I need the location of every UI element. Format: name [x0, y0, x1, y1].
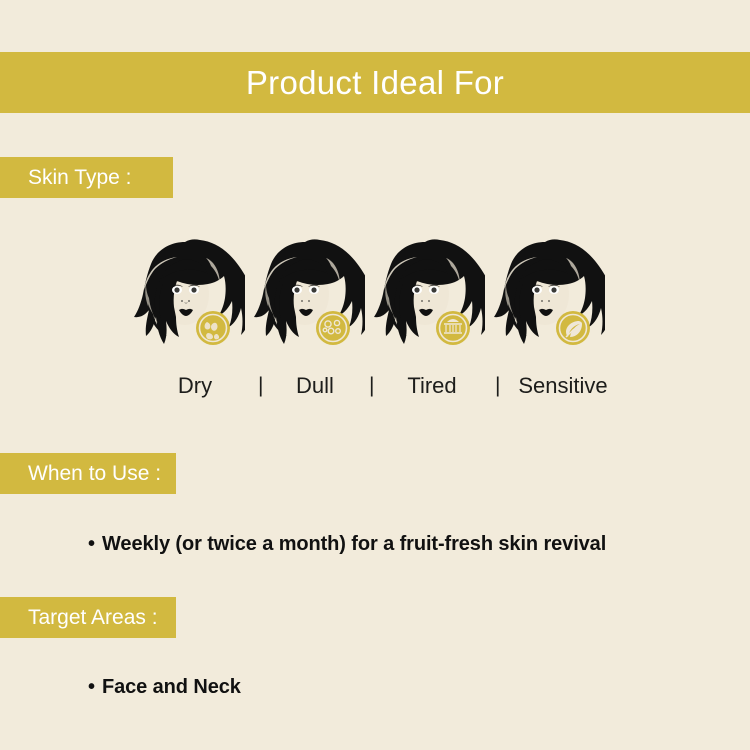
leaf-badge-icon: [556, 311, 590, 345]
section-label-skin-type: Skin Type :: [0, 157, 173, 198]
section-label-target-areas: Target Areas :: [0, 597, 176, 638]
woman-face-dry-icon: [134, 239, 245, 345]
skin-type-icon-dull: [245, 236, 365, 354]
header-banner: Product Ideal For: [0, 52, 750, 113]
bullet-marker-icon: •: [88, 677, 102, 697]
skin-type-separator-2: |: [369, 368, 374, 404]
woman-face-tired-icon: [374, 239, 485, 345]
skin-type-separator-3: |: [495, 368, 500, 404]
bullet-marker-icon: •: [88, 534, 102, 554]
cracked-skin-badge-icon: [196, 311, 230, 345]
skin-type-icon-tired: [365, 236, 485, 354]
skin-type-label-sensitive: Sensitive: [508, 368, 618, 404]
when-to-use-bullet-text: Weekly (or twice a month) for a fruit-fr…: [102, 533, 606, 556]
skin-type-icons-row: [0, 236, 750, 354]
section-label-when-to-use: When to Use :: [0, 453, 176, 494]
skin-type-labels-row: Dry | Dull | Tired | Sensitive: [0, 368, 750, 404]
skin-type-icon-dry: [125, 236, 245, 354]
bubbles-badge-icon: [316, 311, 350, 345]
skin-type-label-dull: Dull: [275, 368, 355, 404]
skin-type-label-tired: Tired: [390, 368, 474, 404]
when-to-use-bullet: • Weekly (or twice a month) for a fruit-…: [88, 533, 606, 556]
woman-face-dull-icon: [254, 239, 365, 345]
skin-type-separator-1: |: [258, 368, 263, 404]
target-areas-bullet: • Face and Neck: [88, 676, 241, 699]
target-areas-bullet-text: Face and Neck: [102, 676, 241, 699]
skin-type-label-dry: Dry: [155, 368, 235, 404]
page-title: Product Ideal For: [246, 66, 504, 99]
skin-type-icon-sensitive: [485, 236, 605, 354]
woman-face-sensitive-icon: [494, 239, 605, 345]
infographic-page: Product Ideal For Skin Type :: [0, 0, 750, 750]
medallion-badge-icon: [436, 311, 470, 345]
